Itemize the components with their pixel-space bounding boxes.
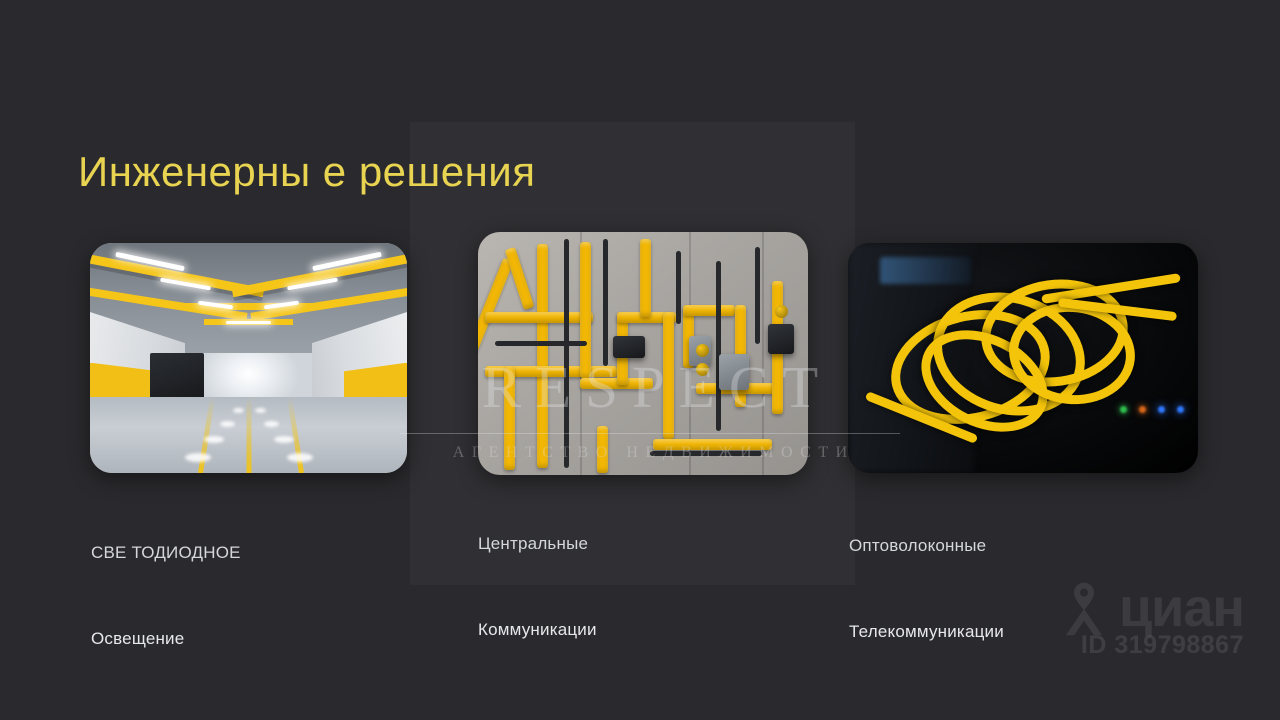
status-led-row [1120, 406, 1184, 413]
valve-handle [775, 305, 788, 318]
black-cable [716, 261, 721, 431]
listing-id: ID 319798867 [1055, 631, 1244, 660]
image-card-fiber-telecom[interactable] [848, 243, 1198, 473]
yellow-pipe [537, 244, 548, 468]
yellow-pipe [653, 439, 772, 450]
black-cable [650, 451, 762, 456]
caption-line-1: Оптоволоконные [849, 536, 1004, 556]
status-led-orange [1139, 406, 1146, 413]
portal-watermark-word: циан [1119, 584, 1244, 633]
floor-reflection [185, 453, 211, 462]
caption-line-2: Телекоммуникации [849, 622, 1004, 642]
black-cable [603, 239, 608, 365]
floor-reflection [287, 453, 313, 462]
rack-display-panel [880, 257, 971, 285]
caption-line-1: Центральные [478, 534, 597, 554]
caption-fiber-telecom: Оптоволоконные Телекоммуникации [849, 500, 1004, 678]
yellow-pipe [683, 305, 736, 316]
yellow-pipe [580, 242, 591, 378]
portal-watermark: циан ID 319798867 [1055, 579, 1244, 660]
status-led-blue [1177, 406, 1184, 413]
yellow-pipes-concrete-wall-photo [478, 232, 808, 475]
yellow-pipe [504, 366, 515, 470]
caption-line-2: Коммуникации [478, 620, 597, 640]
yellow-pipe [640, 239, 651, 317]
yellow-pipe [663, 312, 674, 438]
yellow-fiber-optic-cables-photo [848, 243, 1198, 473]
yellow-pipe [597, 426, 608, 472]
yellow-pipe [485, 312, 594, 323]
presentation-slide: Инженерны е решения [0, 0, 1280, 720]
portal-watermark-row: циан [1055, 579, 1244, 637]
black-cable [755, 247, 760, 344]
cian-logo-icon [1055, 579, 1113, 637]
image-card-led-lighting[interactable] [90, 243, 407, 473]
valve-handle [696, 344, 709, 357]
valve-handle [696, 363, 709, 376]
black-cable [495, 341, 587, 346]
floor-reflection [220, 421, 235, 427]
caption-line-1: СВЕ ТОДИОДНОЕ [91, 543, 241, 563]
floor-marking-center [246, 397, 251, 473]
junction-box [768, 324, 794, 354]
caption-central-communications: Центральные Коммуникации [478, 498, 597, 676]
slide-title: Инженерны е решения [78, 148, 536, 196]
status-led-blue [1158, 406, 1165, 413]
caption-line-2: Освещение [91, 629, 241, 649]
status-led-green [1120, 406, 1127, 413]
black-cable [676, 251, 681, 324]
image-card-central-communications[interactable] [478, 232, 808, 475]
caption-led-lighting: СВЕ ТОДИОДНОЕ Освещение [91, 507, 241, 685]
junction-box [613, 336, 645, 358]
industrial-hall-led-lighting-photo [90, 243, 407, 473]
yellow-pipe [505, 246, 535, 309]
led-strip [226, 321, 270, 324]
control-box [719, 354, 749, 390]
yellow-pipe [478, 258, 513, 352]
black-cable [564, 239, 569, 467]
